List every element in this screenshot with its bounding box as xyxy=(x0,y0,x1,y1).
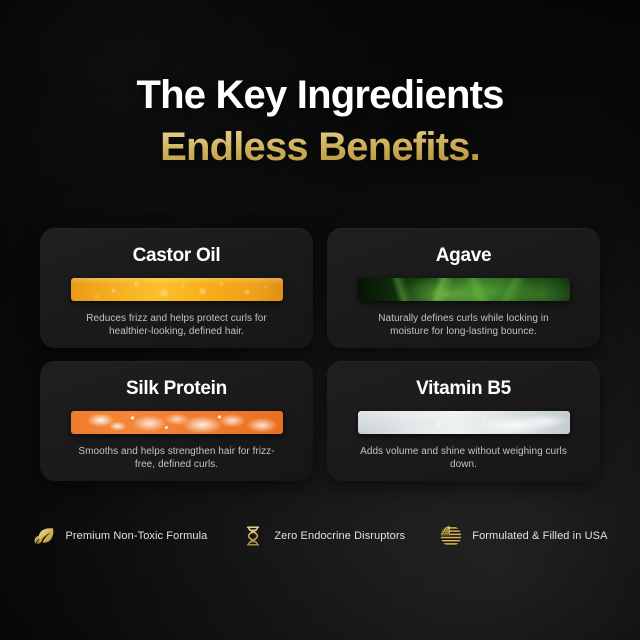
ingredient-card-castor-oil[interactable]: Castor Oil Reduces frizz and helps prote… xyxy=(40,228,313,348)
badge-premium-non-toxic-formula: Premium Non-Toxic Formula xyxy=(32,524,207,548)
ingredient-title: Vitamin B5 xyxy=(416,378,511,400)
headline-block: The Key Ingredients Endless Benefits. xyxy=(0,72,640,170)
agave-leaves-texture-image xyxy=(358,278,570,301)
water-texture-image xyxy=(358,411,570,434)
ingredients-benefits-graphic: The Key Ingredients Endless Benefits. Ca… xyxy=(0,0,640,640)
ingredient-description: Adds volume and shine without weighing c… xyxy=(360,445,568,471)
ingredient-card-agave[interactable]: Agave Naturally defines curls while lock… xyxy=(327,228,600,348)
ingredient-title: Agave xyxy=(436,245,492,267)
dna-icon xyxy=(241,524,265,548)
headline-line-two: Endless Benefits. xyxy=(0,124,640,170)
ingredient-description: Naturally defines curls while locking in… xyxy=(360,312,568,338)
ingredient-title: Castor Oil xyxy=(133,245,221,267)
badge-label: Formulated & Filled in USA xyxy=(472,530,607,543)
silk-protein-texture-image xyxy=(71,411,283,434)
castor-oil-texture-image xyxy=(71,278,283,301)
badge-zero-endocrine-disruptors: Zero Endocrine Disruptors xyxy=(241,524,405,548)
ingredient-description: Reduces frizz and helps protect curls fo… xyxy=(73,312,281,338)
ingredient-card-grid: Castor Oil Reduces frizz and helps prote… xyxy=(40,228,600,481)
ingredient-card-silk-protein[interactable]: Silk Protein Smooths and helps strengthe… xyxy=(40,361,313,481)
trust-badge-row: Premium Non-Toxic Formula xyxy=(0,524,640,548)
ingredient-title: Silk Protein xyxy=(126,378,227,400)
leaf-icon xyxy=(32,524,56,548)
badge-label: Zero Endocrine Disruptors xyxy=(274,530,405,543)
badge-label: Premium Non-Toxic Formula xyxy=(65,530,207,543)
ingredient-description: Smooths and helps strengthen hair for fr… xyxy=(73,445,281,471)
badge-formulated-filled-in-usa: Formulated & Filled in USA xyxy=(439,524,607,548)
usa-flag-icon xyxy=(439,524,463,548)
headline-line-one: The Key Ingredients xyxy=(0,72,640,118)
ingredient-card-vitamin-b5[interactable]: Vitamin B5 Adds volume and shine without… xyxy=(327,361,600,481)
